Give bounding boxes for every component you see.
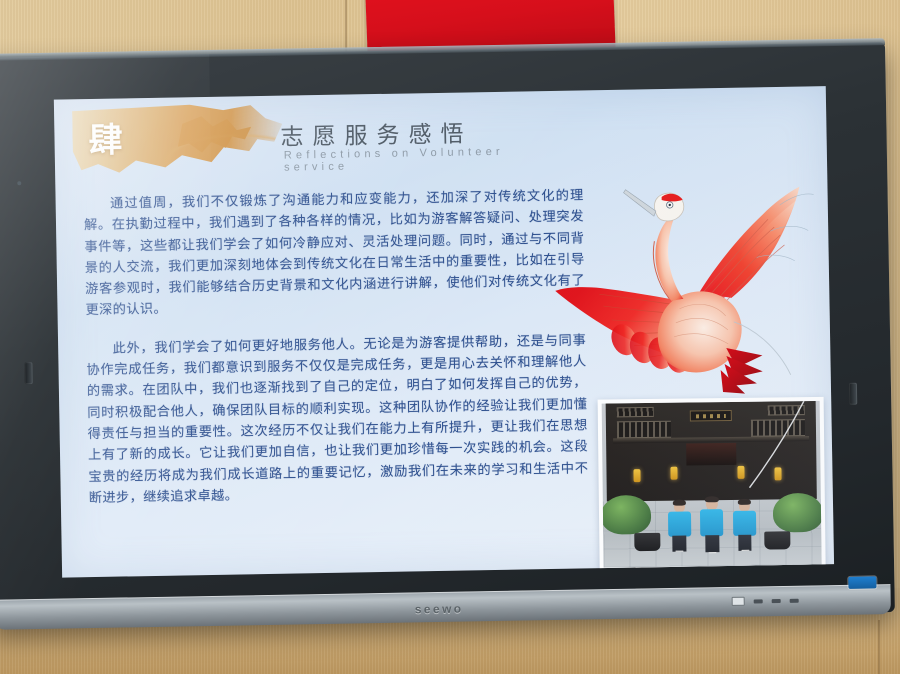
- photo-lantern: [633, 469, 640, 482]
- photo-building-sign: [690, 410, 732, 422]
- port-dot-icon[interactable]: [772, 599, 781, 603]
- interactive-display[interactable]: 肆 志愿服务感悟 Reflections on Volunteer servic…: [0, 42, 895, 628]
- photo-content: [602, 401, 822, 568]
- paragraph: 通过值周，我们不仅锻炼了沟通能力和应变能力，还加深了对传统文化的理解。在执勤过程…: [83, 184, 585, 320]
- seewo-brand-label: seewo: [415, 602, 464, 617]
- slide-header: 肆 志愿服务感悟 Reflections on Volunteer servic…: [54, 92, 515, 186]
- photo-shrub: [773, 493, 822, 533]
- photo-volunteer: [699, 497, 726, 555]
- photo-lantern: [670, 467, 677, 480]
- photo-lantern: [775, 467, 782, 480]
- display-mount-bracket: [849, 383, 857, 405]
- display-port-cluster[interactable]: [732, 596, 799, 606]
- photo-lattice: [617, 421, 672, 438]
- photo-volunteer-shoes: [741, 550, 749, 551]
- volunteers-group-photo: [598, 397, 826, 572]
- photo-lattice: [767, 405, 805, 416]
- port-dot-icon[interactable]: [790, 598, 799, 602]
- photo-volunteer-legs: [738, 535, 752, 551]
- photo-volunteer-legs: [705, 535, 719, 552]
- photo-volunteer: [731, 500, 758, 553]
- photo-volunteer-shoes: [708, 552, 716, 553]
- photo-volunteer-head: [706, 497, 718, 510]
- wall-panel-seam: [878, 620, 880, 674]
- photo-volunteer-shoes: [676, 551, 684, 552]
- photo-building: [606, 401, 816, 505]
- usb-port-icon[interactable]: [732, 597, 745, 606]
- port-dot-icon[interactable]: [754, 599, 763, 603]
- photo-lattice: [617, 407, 655, 418]
- photo-volunteer-vest: [733, 511, 756, 536]
- photo-lantern: [738, 466, 745, 479]
- photo-doorway: [686, 443, 736, 466]
- photo-planter-pot: [634, 532, 660, 550]
- paragraph: 此外，我们学会了如何更好地服务他人。无论是为游客提供帮助，还是与同事协作完成任务…: [86, 329, 589, 508]
- display-screen[interactable]: 肆 志愿服务感悟 Reflections on Volunteer servic…: [54, 86, 834, 577]
- photo-lattice: [751, 419, 806, 436]
- chapter-number: 肆: [88, 112, 125, 162]
- photo-volunteer: [666, 501, 693, 554]
- slide-body-text: 通过值周，我们不仅锻炼了沟通能力和应变能力，还加深了对传统文化的理解。在执勤过程…: [83, 184, 588, 508]
- photo-volunteer-vest: [668, 511, 691, 536]
- photo-scene: 肆 志愿服务感悟 Reflections on Volunteer servic…: [0, 0, 900, 674]
- display-mount-bracket: [24, 362, 32, 384]
- photo-planter-pot: [765, 531, 791, 549]
- red-crane-illustration: [547, 178, 829, 403]
- display-serial-sticker: [848, 576, 876, 588]
- photo-volunteer-legs: [673, 536, 687, 552]
- photo-volunteer-vest: [700, 509, 723, 537]
- display-bezel-screw: [17, 181, 21, 185]
- photo-shrub: [602, 495, 652, 535]
- slide-subtitle: Reflections on Volunteer service: [284, 146, 515, 174]
